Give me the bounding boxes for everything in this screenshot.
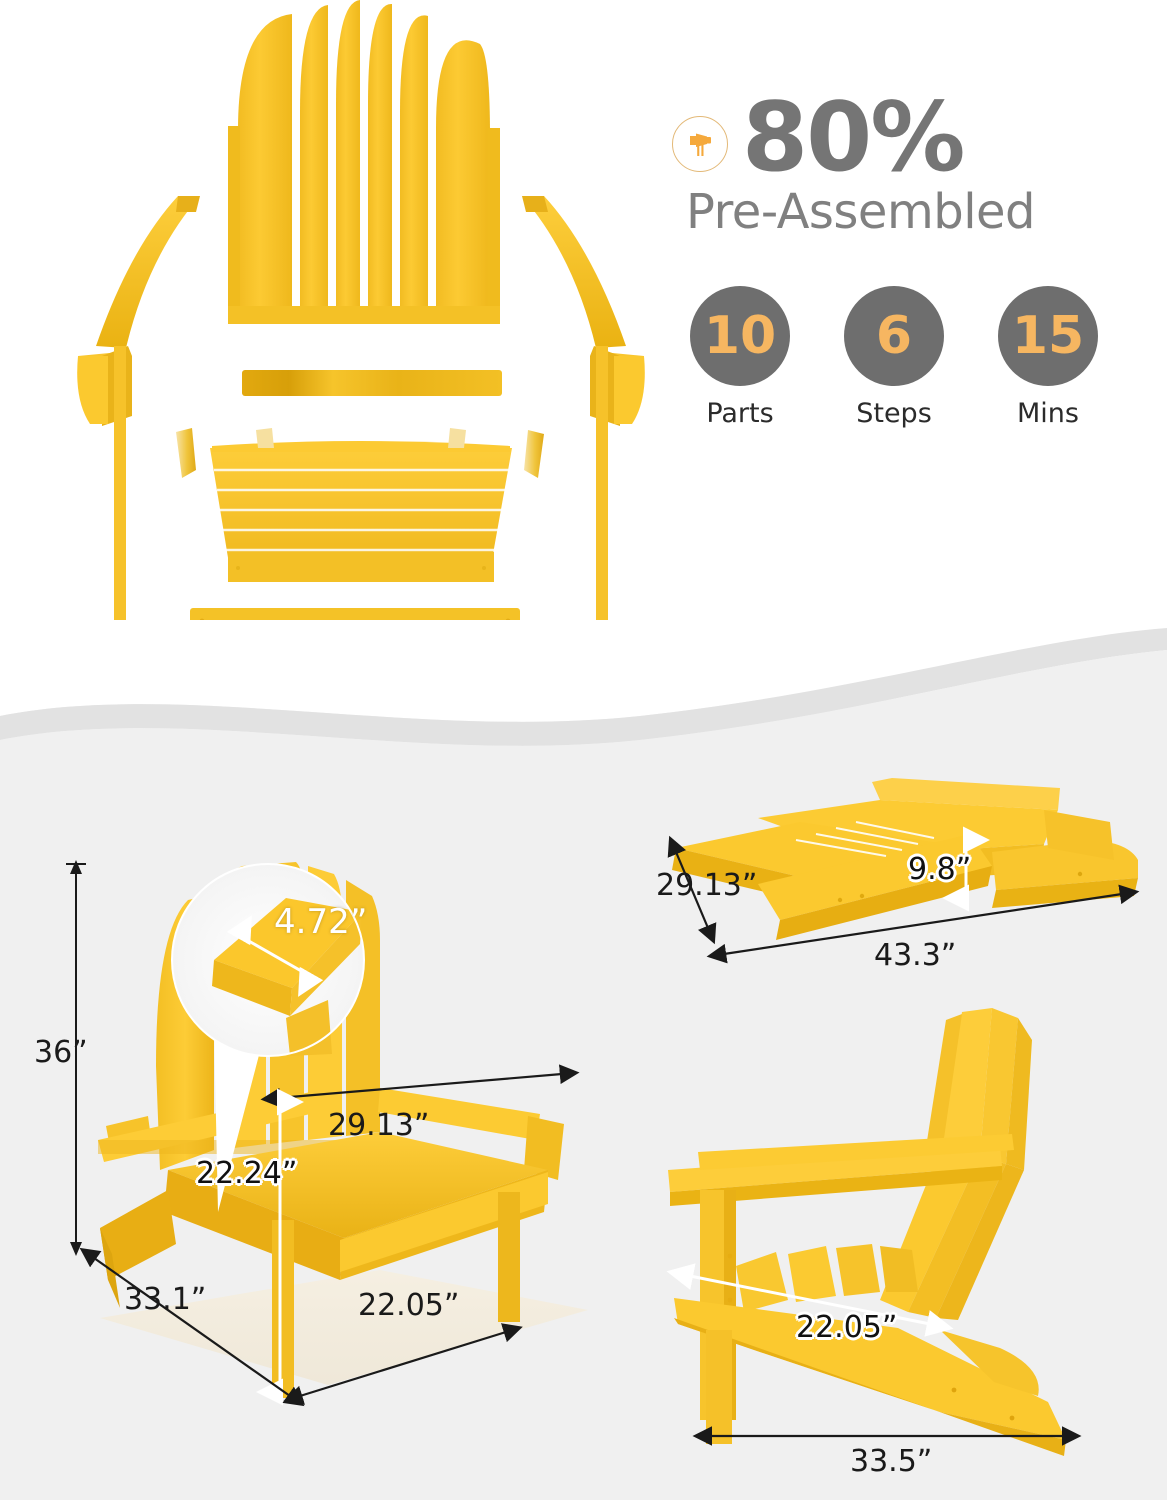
dim-folded-length-label: 43.3” [874, 938, 956, 973]
stat-mins-value: 15 [1012, 310, 1084, 362]
assembly-info-block: 80% Pre-Assembled 10 Parts 6 Steps [672, 95, 1142, 429]
stat-steps-label: Steps [838, 398, 950, 429]
left-armrest [96, 196, 200, 348]
stat-parts: 10 Parts [684, 286, 796, 429]
dim-width-label: 22.05” [358, 1288, 459, 1323]
stat-steps-circle: 6 [844, 286, 944, 386]
dim-seatheight-label: 22.24” [196, 1156, 297, 1191]
seat-tab-left [256, 428, 274, 448]
dim-depth-label: 33.1” [124, 1282, 206, 1317]
pre-assembled-percent: 80% [742, 95, 963, 182]
left-leg-support [77, 346, 132, 648]
top-section: 80% Pre-Assembled 10 Parts 6 Steps [0, 0, 1167, 720]
assembly-headline-row: 80% [672, 95, 1142, 182]
right-armrest [522, 196, 626, 348]
dim-folded-width-label: 29.13” [656, 868, 757, 903]
stat-mins: 15 Mins [992, 286, 1104, 429]
right-leg-support [590, 346, 645, 648]
upper-crossbar [242, 370, 502, 396]
seat-tab-right [448, 428, 466, 448]
side-chair-illustration [668, 1008, 1066, 1456]
dim-armwidth-label: 29.13” [328, 1108, 429, 1143]
seat-slat-panel [210, 441, 512, 582]
stat-steps-value: 6 [876, 310, 912, 362]
dim-folded-thickness-label: 9.8” [908, 852, 971, 887]
stat-parts-value: 10 [704, 310, 776, 362]
side-view-dimension-panel: 22.05” 33.5” [640, 1000, 1160, 1490]
folded-chair-illustration [672, 778, 1138, 940]
assembly-stats: 10 Parts 6 Steps 15 Mins [684, 286, 1142, 429]
stat-parts-label: Parts [684, 398, 796, 429]
folded-view-dimension-panel: 29.13” 9.8” 43.3” [640, 760, 1160, 1020]
backrest-slat-panel [228, 0, 500, 324]
dim-side-depth-label: 33.5” [850, 1444, 932, 1479]
hammer-icon [672, 116, 728, 172]
stat-steps: 6 Steps [838, 286, 950, 429]
stat-parts-circle: 10 [690, 286, 790, 386]
stat-mins-circle: 15 [998, 286, 1098, 386]
dim-side-seatdepth-label: 22.05” [796, 1310, 897, 1345]
dim-height-label: 36” [34, 1035, 88, 1070]
left-peg [176, 428, 196, 478]
exploded-parts-illustration [60, 0, 660, 690]
product-infographic: 80% Pre-Assembled 10 Parts 6 Steps [0, 0, 1167, 1500]
right-peg [524, 430, 544, 478]
dim-armrest-callout-label: 4.72” [274, 902, 367, 942]
front-view-dimension-panel: 36” 29.13” 22.24” 33.1” 22.05” 4.72” [28, 840, 628, 1460]
stat-mins-label: Mins [992, 398, 1104, 429]
pre-assembled-subtitle: Pre-Assembled [686, 184, 1142, 240]
